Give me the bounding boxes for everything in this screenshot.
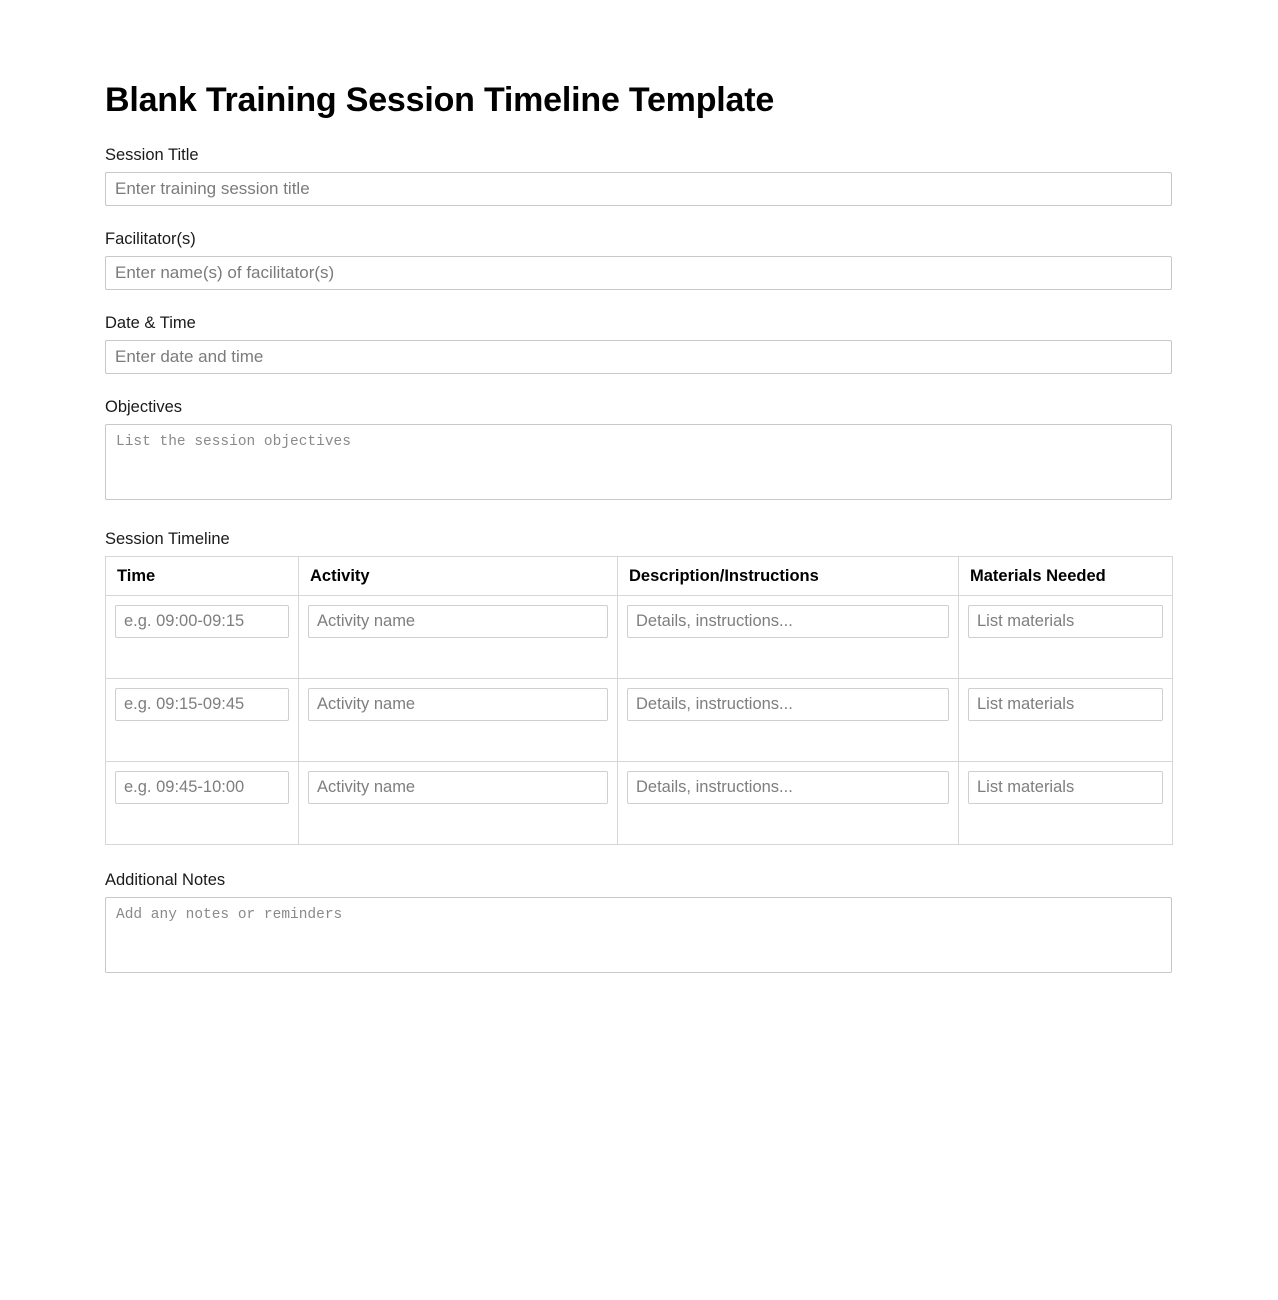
page-title: Blank Training Session Timeline Template — [105, 0, 1172, 120]
facilitators-input[interactable] — [105, 256, 1172, 290]
row-1-time-input[interactable] — [115, 688, 289, 721]
row-2-time-input[interactable] — [115, 771, 289, 804]
session-title-label: Session Title — [105, 146, 1172, 165]
cell-time — [106, 596, 299, 679]
row-2-description-input[interactable] — [627, 771, 949, 804]
row-1-materials-input[interactable] — [968, 688, 1163, 721]
row-2-activity-input[interactable] — [308, 771, 608, 804]
cell-description — [618, 596, 959, 679]
row-2-materials-input[interactable] — [968, 771, 1163, 804]
session-title-input[interactable] — [105, 172, 1172, 206]
cell-materials — [959, 596, 1173, 679]
cell-time — [106, 679, 299, 762]
cell-materials — [959, 762, 1173, 845]
cell-activity — [299, 762, 618, 845]
cell-materials — [959, 679, 1173, 762]
objectives-label: Objectives — [105, 398, 1172, 417]
session-timeline-label: Session Timeline — [105, 530, 1172, 549]
column-header-activity: Activity — [299, 557, 618, 596]
cell-time — [106, 762, 299, 845]
field-additional-notes: Additional Notes — [105, 871, 1172, 973]
row-0-materials-input[interactable] — [968, 605, 1163, 638]
cell-activity — [299, 596, 618, 679]
additional-notes-label: Additional Notes — [105, 871, 1172, 890]
session-timeline-table: Time Activity Description/Instructions M… — [105, 556, 1173, 845]
table-row — [106, 679, 1173, 762]
column-header-materials: Materials Needed — [959, 557, 1173, 596]
cell-activity — [299, 679, 618, 762]
field-session-title: Session Title — [105, 146, 1172, 206]
document-content: Blank Training Session Timeline Template… — [105, 0, 1172, 973]
table-row — [106, 596, 1173, 679]
row-0-description-input[interactable] — [627, 605, 949, 638]
field-session-timeline: Session Timeline Time Activity Descripti… — [105, 530, 1172, 845]
cell-description — [618, 762, 959, 845]
objectives-textarea[interactable] — [105, 424, 1172, 500]
date-time-label: Date & Time — [105, 314, 1172, 333]
row-0-activity-input[interactable] — [308, 605, 608, 638]
cell-description — [618, 679, 959, 762]
column-header-description: Description/Instructions — [618, 557, 959, 596]
column-header-time: Time — [106, 557, 299, 596]
field-objectives: Objectives — [105, 398, 1172, 500]
date-time-input[interactable] — [105, 340, 1172, 374]
row-1-description-input[interactable] — [627, 688, 949, 721]
row-1-activity-input[interactable] — [308, 688, 608, 721]
table-header-row: Time Activity Description/Instructions M… — [106, 557, 1173, 596]
page-root: Blank Training Session Timeline Template… — [0, 0, 1278, 1300]
row-0-time-input[interactable] — [115, 605, 289, 638]
facilitators-label: Facilitator(s) — [105, 230, 1172, 249]
field-date-time: Date & Time — [105, 314, 1172, 374]
table-row — [106, 762, 1173, 845]
field-facilitators: Facilitator(s) — [105, 230, 1172, 290]
additional-notes-textarea[interactable] — [105, 897, 1172, 973]
